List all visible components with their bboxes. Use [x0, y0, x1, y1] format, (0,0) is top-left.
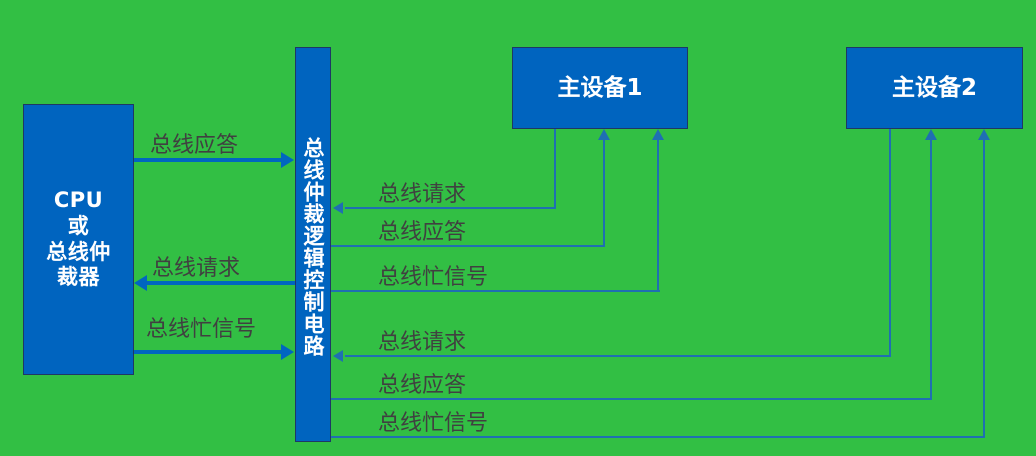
node-cpu[interactable]: CPU 或 总线仲 裁器: [23, 104, 134, 375]
diagram-canvas: 总线应答 总线请求 总线忙信号 总线请求 总线应答 总线忙信号 总线请求 总线应…: [0, 0, 1036, 456]
arrowhead-m2-grant: [925, 129, 937, 140]
edge-line-m1-grant-vertical: [603, 140, 605, 246]
edge-label-m2-grant: 总线应答: [378, 367, 466, 399]
edge-line-m1-busy-vertical: [657, 140, 659, 291]
edge-label-m1-grant: 总线应答: [378, 214, 466, 246]
edge-label-m1-busy: 总线忙信号: [378, 259, 488, 291]
edge-label-cpu-request: 总线请求: [152, 250, 240, 282]
arrowhead-cpu-request: [134, 275, 147, 291]
node-cpu-line-4: 裁器: [46, 265, 111, 291]
edge-line-m2-request-vertical: [889, 129, 891, 357]
arrowhead-m2-request: [333, 350, 343, 362]
arrowhead-m2-busy: [978, 129, 990, 140]
arrowhead-m1-grant: [598, 129, 610, 140]
node-master-device-1-label: 主设备1: [557, 74, 642, 102]
edge-line-m1-request-vertical: [554, 129, 556, 209]
node-cpu-label: CPU 或 总线仲 裁器: [46, 188, 111, 290]
arrowhead-cpu-busy: [281, 344, 294, 360]
edge-line-m2-grant-vertical: [930, 140, 932, 399]
node-master-device-1[interactable]: 主设备1: [512, 47, 688, 129]
edge-line-cpu-busy: [134, 350, 282, 354]
edge-line-m1-grant-horizontal: [331, 245, 605, 247]
arrowhead-m1-busy: [652, 129, 664, 140]
node-master-device-2[interactable]: 主设备2: [846, 47, 1023, 129]
node-cpu-line-3: 总线仲: [46, 240, 111, 266]
edge-label-m2-request: 总线请求: [378, 324, 466, 356]
node-bus-arbiter-logic[interactable]: 总线仲裁逻辑控制电路: [295, 47, 331, 442]
node-master-device-2-label: 主设备2: [892, 74, 977, 102]
node-bus-arbiter-logic-label: 总线仲裁逻辑控制电路: [302, 137, 324, 357]
node-cpu-line-2: 或: [46, 214, 111, 240]
arrowhead-m1-request: [333, 202, 343, 214]
edge-label-m2-busy: 总线忙信号: [378, 405, 488, 437]
edge-line-m2-busy-vertical: [983, 140, 985, 437]
edge-label-cpu-busy: 总线忙信号: [146, 311, 256, 343]
edge-label-cpu-grant: 总线应答: [150, 127, 238, 159]
arrowhead-cpu-grant: [281, 152, 294, 168]
node-cpu-line-1: CPU: [46, 188, 111, 214]
edge-label-m1-request: 总线请求: [378, 176, 466, 208]
